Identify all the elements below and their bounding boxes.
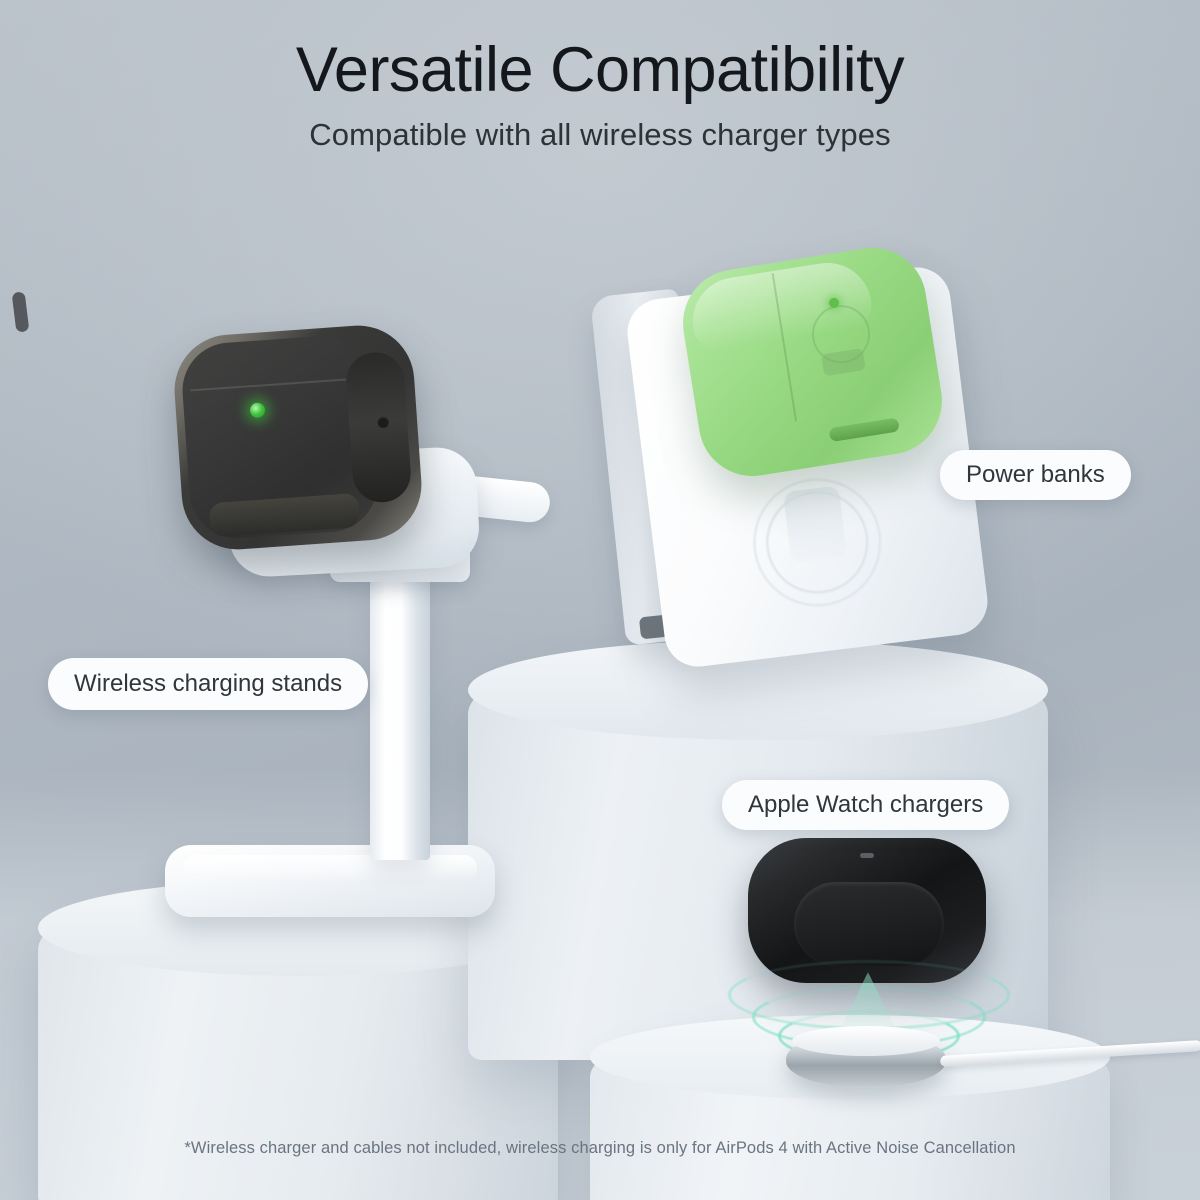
header-block: Versatile Compatibility Compatible with … (0, 38, 1200, 153)
usb-c-port-icon (12, 291, 30, 332)
callout-label: Power banks (966, 461, 1105, 489)
page-title: Versatile Compatibility (0, 38, 1200, 104)
case-dark-side-panel (344, 351, 412, 505)
case-black-inner-recess (794, 882, 944, 966)
power-bank-emblem (782, 486, 846, 564)
apple-watch-puck-surface (792, 1026, 940, 1056)
case-green-port (829, 417, 900, 442)
callout-label: Wireless charging stands (74, 670, 342, 698)
airpods-case-green (675, 240, 950, 484)
case-black-led-icon (860, 853, 874, 858)
stand-column (370, 560, 430, 860)
callout-apple-watch-chargers: Apple Watch chargers (722, 780, 1009, 830)
page-subtitle: Compatible with all wireless charger typ… (0, 117, 1200, 153)
callout-wireless-charging-stands: Wireless charging stands (48, 658, 368, 710)
product-marketing-image: Versatile Compatibility Compatible with … (0, 0, 1200, 1200)
airpods-case-dark (171, 322, 425, 553)
disclaimer-text: *Wireless charger and cables not include… (0, 1139, 1200, 1158)
callout-power-banks: Power banks (940, 450, 1131, 500)
stand-base (165, 845, 495, 917)
callout-label: Apple Watch chargers (748, 791, 983, 819)
